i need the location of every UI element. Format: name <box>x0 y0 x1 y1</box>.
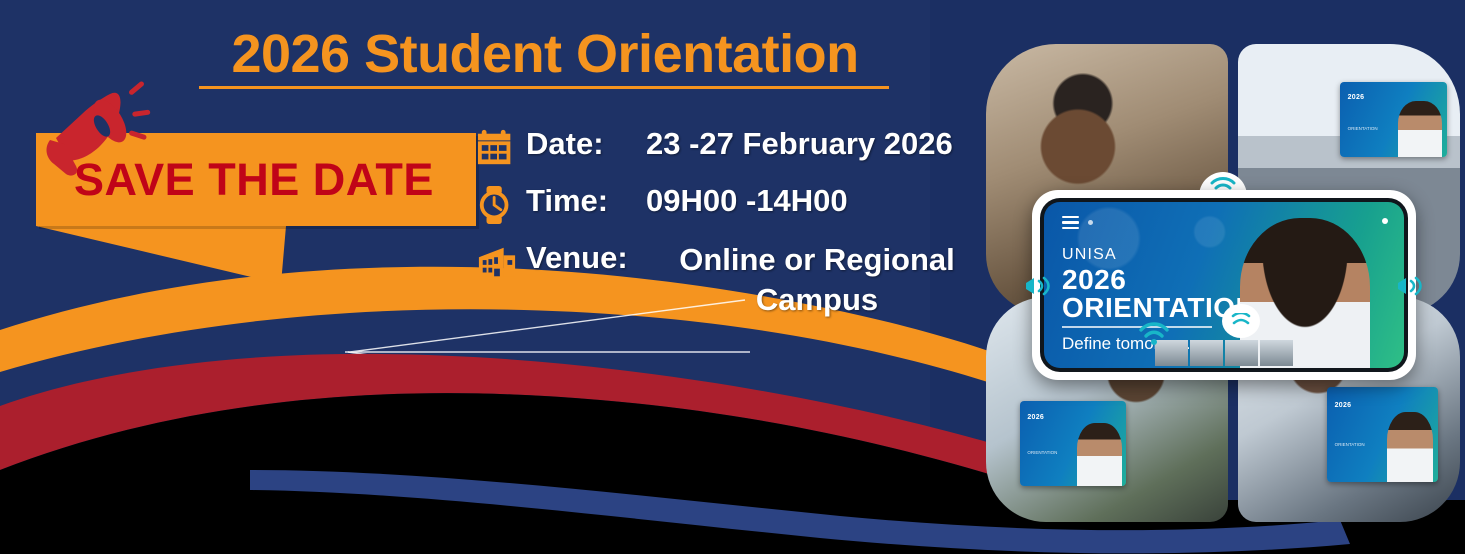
detail-row-venue: Venue: Online or Regional Campus <box>474 240 994 319</box>
page-title: 2026 Student Orientation <box>190 26 900 83</box>
tablet-bezel: UNISA 2026 ORIENTATION Define tomorrow. <box>1040 198 1408 372</box>
calendar-icon <box>474 126 520 168</box>
detail-row-date: Date: 23 -27 February 2026 <box>474 126 994 168</box>
status-dot-icon <box>1088 220 1093 225</box>
tablet-screen: UNISA 2026 ORIENTATION Define tomorrow. <box>1044 202 1404 368</box>
presenter-figure <box>1387 412 1434 482</box>
wifi-icon-small <box>1138 322 1170 346</box>
signal-icon <box>1230 313 1252 329</box>
thumbnail-participant <box>1190 340 1223 366</box>
megaphone-icon <box>36 78 156 193</box>
video-call-thumbnails <box>1155 340 1293 366</box>
event-details: Date: 23 -27 February 2026 Time: 09H00 -… <box>474 126 994 334</box>
laptop-right-heading: ORIENTATION <box>1335 442 1365 447</box>
connection-badge <box>1222 304 1260 338</box>
detail-label-date: Date: <box>526 126 638 162</box>
thumbnail-participant <box>1260 340 1293 366</box>
laptop-left-year: 2026 <box>1027 414 1044 422</box>
orientation-banner: 2026 Student Orientation SAVE THE DATE <box>0 0 1465 554</box>
laptop-left-heading: ORIENTATION <box>1027 450 1057 455</box>
laptop-screen-right: 2026 ORIENTATION <box>1327 387 1438 482</box>
detail-label-time: Time: <box>526 183 638 219</box>
speech-bubble-tail <box>36 226 296 288</box>
detail-value-venue: Online or Regional Campus <box>638 240 988 319</box>
speaker-icon-left <box>1022 274 1052 298</box>
presenter-figure <box>1398 101 1443 157</box>
save-the-date-callout: SAVE THE DATE <box>22 80 472 280</box>
watch-clock-icon <box>474 183 520 225</box>
campus-building-icon <box>474 240 520 282</box>
camera-dot-icon <box>1382 218 1388 224</box>
thumbnail-participant <box>1225 340 1258 366</box>
detail-value-time: 09H00 -14H00 <box>638 183 848 219</box>
detail-row-time: Time: 09H00 -14H00 <box>474 183 994 225</box>
detail-label-venue: Venue: <box>526 240 638 276</box>
speaker-icon-right <box>1394 274 1424 298</box>
menu-icon[interactable] <box>1062 216 1079 228</box>
lecture-screen-heading: ORIENTATION <box>1348 126 1378 131</box>
presenter-figure <box>1077 423 1122 486</box>
lecture-room-screen: 2026 ORIENTATION <box>1340 82 1447 158</box>
tablet-divider <box>1062 326 1212 328</box>
central-tablet: UNISA 2026 ORIENTATION Define tomorrow. <box>1032 190 1416 380</box>
detail-value-date: 23 -27 February 2026 <box>638 126 953 162</box>
laptop-screen-left: 2026 ORIENTATION <box>1020 401 1126 487</box>
laptop-right-year: 2026 <box>1335 402 1352 410</box>
orientation-photo-collage: 2026 ORIENTATION 2026 ORIENTATION 2026 O… <box>986 22 1460 522</box>
lecture-screen-year: 2026 <box>1348 94 1365 102</box>
tablet-brand: UNISA <box>1062 246 1117 264</box>
